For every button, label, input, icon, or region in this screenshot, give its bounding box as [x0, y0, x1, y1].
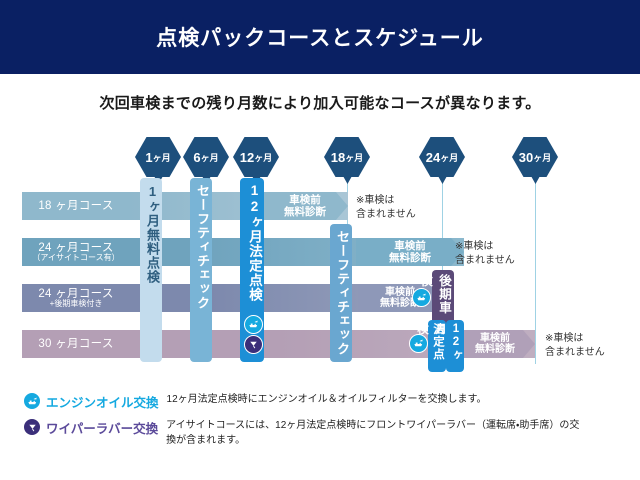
- wiper-icon-col12: [244, 335, 263, 354]
- month-marker-12-unit: ヶ月: [254, 151, 272, 164]
- column-safety-check-2: セーフティチェック: [330, 224, 352, 362]
- month-marker-24-number: 24: [426, 150, 440, 165]
- month-marker-30-tail: [531, 176, 540, 184]
- course-label-30: 30 ヶ月コース: [22, 330, 130, 358]
- subtitle-text: 次回車検までの残り月数により加入可能なコースが異なります。: [0, 92, 640, 113]
- month-marker-6-unit: ヶ月: [201, 151, 219, 164]
- note-row1: ※車検は 含まれません: [356, 194, 416, 221]
- month-marker-24-tail: [438, 176, 447, 184]
- month-marker-18-number: 18: [331, 150, 345, 165]
- pre-inspection-arrow-row4-line2: 無料診断: [475, 344, 515, 356]
- legend-item-oil-name: エンジンオイル交換: [46, 392, 159, 411]
- legend: エンジンオイル交換 12ヶ月法定点検時にエンジンオイル＆オイルフィルターを交換し…: [0, 392, 640, 455]
- month-marker-18-tail: [343, 176, 352, 184]
- legend-item-wiper-name: ワイパーラバー交換: [46, 418, 158, 437]
- schedule-chart: 1ヶ月 6ヶ月 12ヶ月 18ヶ月 24ヶ月 30ヶ月 18 ヶ月コース 車検前…: [0, 130, 640, 380]
- pre-inspection-arrow-row1: 車検前 無料診断: [262, 192, 348, 220]
- month-marker-6-number: 6: [193, 150, 200, 165]
- column-safety-check: セーフティチェック: [190, 178, 212, 362]
- course-label-18-main: 18 ヶ月コース: [38, 200, 113, 212]
- month-marker-6: 6ヶ月: [183, 137, 229, 177]
- course-label-18: 18 ヶ月コース: [22, 192, 130, 220]
- course-label-30-main: 30 ヶ月コース: [38, 338, 113, 350]
- column-one-month: 1ヶ月無料点検: [140, 178, 162, 362]
- oil-can-icon-col12: [244, 315, 263, 334]
- column-safety-check-2-label: セーフティチェック: [333, 230, 352, 356]
- course-label-24-kouki-sub: +後期車検付き: [50, 300, 103, 308]
- oil-can-icon: [24, 393, 40, 409]
- pre-inspection-arrow-row4: 車検前 無料診断: [455, 330, 535, 358]
- month-marker-18-unit: ヶ月: [345, 151, 363, 164]
- legend-item-wiper: ワイパーラバー交換 アイサイトコースには、12ヶ月法定点検時にフロントワイパーラ…: [0, 418, 640, 448]
- note-row4: ※車検は 含まれません: [545, 332, 605, 359]
- month-marker-24-unit: ヶ月: [440, 151, 458, 164]
- legend-item-wiper-desc: アイサイトコースには、12ヶ月法定点検時にフロントワイパーラバー（運転席・助手席…: [166, 418, 584, 448]
- column-kouki-shaken: 後期車検: [432, 270, 454, 326]
- oil-can-icon-row4: [409, 334, 428, 353]
- column-twelve-month-row4-label: 12ヶ月: [432, 323, 464, 372]
- column-twelve-month-label: 12ヶ月法定点検: [244, 183, 264, 302]
- page-title: 点検パックコースとスケジュール: [156, 22, 483, 52]
- pre-inspection-arrow-row1-line1: 車検前: [284, 194, 326, 206]
- page-header: 点検パックコースとスケジュール: [0, 0, 640, 74]
- oil-can-icon-row3: [412, 288, 431, 307]
- month-marker-24: 24ヶ月: [419, 137, 465, 177]
- month-marker-30-unit: ヶ月: [533, 151, 551, 164]
- pre-inspection-arrow-row2: 車検前 無料診断: [356, 238, 464, 266]
- pre-inspection-arrow-row2-line2: 無料診断: [389, 252, 431, 264]
- month-marker-18: 18ヶ月: [324, 137, 370, 177]
- month-marker-30-number: 30: [519, 150, 533, 165]
- tickline-30: [535, 174, 536, 364]
- pre-inspection-arrow-row4-line1: 車検前: [475, 333, 515, 345]
- column-safety-check-label: セーフティチェック: [193, 184, 212, 310]
- month-marker-12: 12ヶ月: [233, 137, 279, 177]
- column-twelve-month-row4: 12ヶ月: [446, 320, 464, 372]
- month-marker-1-number: 1: [145, 150, 152, 165]
- legend-item-oil: エンジンオイル交換 12ヶ月法定点検時にエンジンオイル＆オイルフィルターを交換し…: [0, 392, 640, 411]
- note-row2: ※車検は 含まれません: [455, 240, 515, 267]
- column-one-month-label: 1ヶ月無料点検: [143, 184, 162, 284]
- course-label-24-kouki: 24 ヶ月コース +後期車検付き: [22, 284, 130, 312]
- month-marker-30: 30ヶ月: [512, 137, 558, 177]
- pre-inspection-arrow-row2-line1: 車検前: [389, 240, 431, 252]
- pre-inspection-arrow-row1-line2: 無料診断: [284, 206, 326, 218]
- wiper-icon: [24, 419, 40, 435]
- course-label-24-eyesight-sub: （アイサイトコース有）: [32, 254, 119, 262]
- course-label-24-eyesight: 24 ヶ月コース （アイサイトコース有）: [22, 238, 130, 266]
- legend-item-oil-desc: 12ヶ月法定点検時にエンジンオイル＆オイルフィルターを交換します。: [167, 392, 487, 407]
- month-marker-12-number: 12: [240, 150, 254, 165]
- month-marker-1: 1ヶ月: [135, 137, 181, 177]
- month-marker-1-unit: ヶ月: [153, 151, 171, 164]
